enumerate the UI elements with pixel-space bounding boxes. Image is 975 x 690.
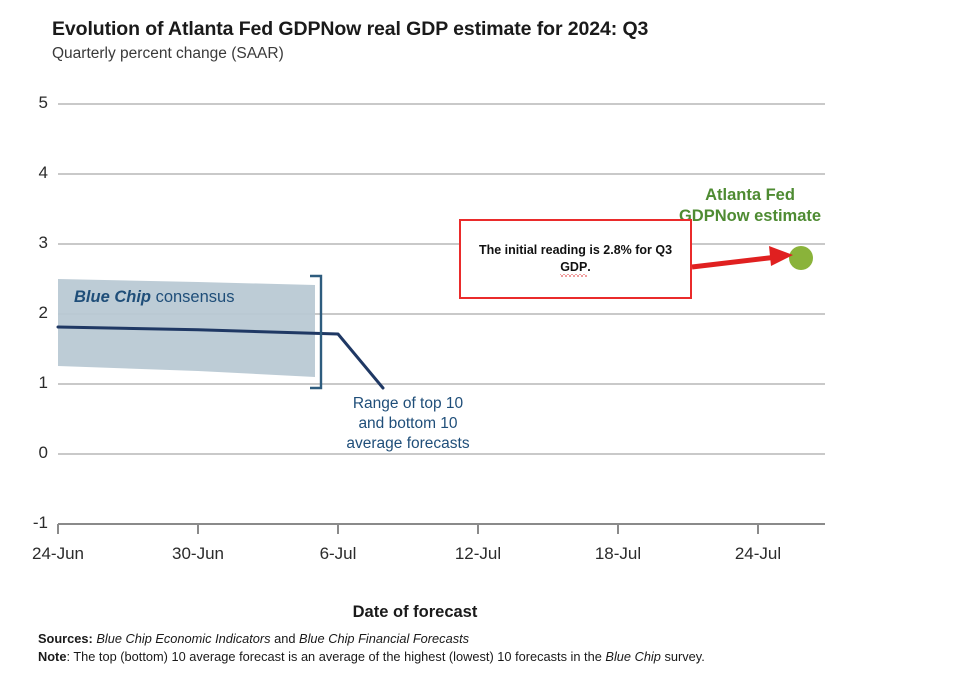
y-tick-3: 3 [14,233,48,253]
y-tick-2: 2 [14,303,48,323]
x-tick-18-jul: 18-Jul [558,544,678,564]
x-tick-30-jun: 30-Jun [138,544,258,564]
x-tick-12-jul: 12-Jul [418,544,538,564]
note-line: Note: The top (bottom) 10 average foreca… [38,648,838,666]
range-label-line2: and bottom 10 [318,414,498,434]
callout-arrow [692,246,793,267]
sources-pub-a: Blue Chip Economic Indicators [93,631,274,646]
blue-chip-consensus-label: Blue Chip consensus [74,288,234,307]
note-text-b: survey. [661,649,705,664]
callout-misspelled-word: GDP [560,260,587,274]
range-bracket-label: Range of top 10 and bottom 10 average fo… [318,394,498,453]
callout-text-after: . [587,260,590,274]
plot-area [0,0,975,690]
y-tick-5: 5 [14,93,48,113]
x-axis [58,524,825,534]
callout-text-before: The initial reading is 2.8% for Q3 [479,243,672,257]
x-tick-6-jul: 6-Jul [278,544,398,564]
callout-textbox[interactable]: The initial reading is 2.8% for Q3 GDP. [459,219,692,299]
blue-chip-italic: Blue Chip [74,288,151,306]
consensus-word: consensus [151,288,234,306]
range-label-line3: average forecasts [318,434,498,454]
y-tick-4: 4 [14,163,48,183]
note-label: Note [38,649,66,664]
y-tick-0: 0 [14,443,48,463]
note-italic: Blue Chip [605,649,661,664]
x-tick-24-jul: 24-Jul [698,544,818,564]
gdpnow-label-line1: Atlanta Fed [660,185,840,206]
y-tick-minus1: -1 [14,513,48,533]
note-text-a: The top (bottom) 10 average forecast is … [73,649,605,664]
callout-text: The initial reading is 2.8% for Q3 GDP. [461,242,690,276]
sources-and: and [274,631,295,646]
x-tick-24-jun: 24-Jun [0,544,118,564]
gdpnow-estimate-dot [789,246,813,270]
x-axis-title: Date of forecast [0,603,830,622]
chart-figure: Evolution of Atlanta Fed GDPNow real GDP… [0,0,975,690]
sources-label: Sources: [38,631,93,646]
footnotes: Sources: Blue Chip Economic Indicators a… [38,630,838,666]
range-label-line1: Range of top 10 [318,394,498,414]
sources-line: Sources: Blue Chip Economic Indicators a… [38,630,838,648]
y-tick-1: 1 [14,373,48,393]
sources-pub-b: Blue Chip Financial Forecasts [296,631,470,646]
